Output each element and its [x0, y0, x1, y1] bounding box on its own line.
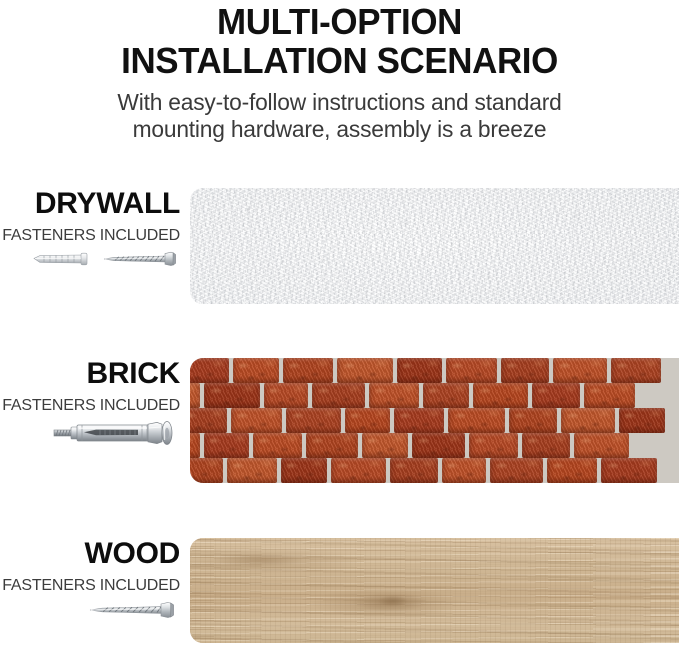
section-drywall: DRYWALL FASTENERS INCLUDED — [0, 188, 679, 316]
brick-unit — [362, 433, 408, 458]
fasteners-note-wood: FASTENERS INCLUDED — [0, 577, 180, 595]
brick-unit — [423, 383, 469, 408]
brick-unit — [574, 433, 629, 458]
brick-unit — [231, 408, 283, 433]
screw-icon — [88, 600, 180, 620]
brick-unit — [369, 383, 419, 408]
brick-unit — [281, 458, 327, 483]
brick-unit — [412, 433, 465, 458]
brick-unit — [190, 358, 229, 383]
brick-labels: BRICK FASTENERS INCLUDED — [0, 358, 180, 415]
fasteners-note-drywall: FASTENERS INCLUDED — [0, 227, 180, 245]
brick-unit — [584, 383, 635, 408]
sleeve-expansion-anchor-icon — [52, 420, 180, 446]
brick-unit — [306, 433, 357, 458]
page-title-line-2: INSTALLATION SCENARIO — [28, 41, 652, 80]
brick-unit — [286, 408, 341, 433]
brick-unit — [501, 358, 549, 383]
brick-unit — [190, 408, 227, 433]
page-subtitle-line-2: mounting hardware, assembly is a breeze — [29, 116, 650, 143]
brick-unit — [522, 433, 570, 458]
brick-unit — [227, 458, 277, 483]
brick-unit — [233, 358, 279, 383]
brick-unit — [442, 458, 486, 483]
brick-unit — [283, 358, 333, 383]
material-name-drywall: DRYWALL — [0, 188, 180, 220]
screw-icon — [102, 250, 180, 268]
material-name-wood: WOOD — [0, 538, 180, 570]
brick-unit — [394, 408, 444, 433]
surface-panel-brick — [190, 358, 679, 483]
brick-unit — [469, 433, 519, 458]
wood-texture — [190, 538, 679, 643]
wall-plug-anchor-icon — [32, 250, 94, 268]
brick-unit — [390, 458, 438, 483]
brick-unit — [190, 383, 200, 408]
brick-unit — [561, 408, 614, 433]
brick-unit — [532, 383, 580, 408]
page-subtitle: With easy-to-follow instructions and sta… — [3, 89, 675, 143]
page-title: MULTI-OPTION INSTALLATION SCENARIO — [10, 2, 669, 80]
brick-unit — [611, 358, 661, 383]
brick-unit — [312, 383, 365, 408]
brick-unit — [331, 458, 386, 483]
brick-row — [190, 433, 633, 458]
surface-panel-drywall — [190, 188, 679, 304]
brick-unit — [345, 408, 390, 433]
brick-unit — [619, 408, 666, 433]
section-brick: BRICK FASTENERS INCLUDED — [0, 358, 679, 486]
brick-hardware-row — [0, 420, 184, 446]
brick-unit — [553, 358, 608, 383]
page-subtitle-line-1: With easy-to-follow instructions and sta… — [29, 89, 650, 116]
brick-unit — [547, 458, 597, 483]
drywall-labels: DRYWALL FASTENERS INCLUDED — [0, 188, 180, 245]
section-wood: WOOD FASTENERS INCLUDED — [0, 538, 679, 648]
brick-unit — [337, 358, 393, 383]
brick-row — [190, 408, 669, 433]
brick-unit — [264, 383, 308, 408]
brick-unit — [204, 383, 260, 408]
brick-unit — [601, 458, 657, 483]
brick-texture — [190, 358, 679, 483]
wood-hardware-row — [0, 600, 180, 620]
brick-unit — [253, 433, 303, 458]
header-block: MULTI-OPTION INSTALLATION SCENARIO With … — [0, 0, 679, 143]
page-title-line-1: MULTI-OPTION — [28, 2, 652, 41]
material-name-brick: BRICK — [0, 358, 180, 390]
brick-row — [190, 358, 665, 383]
brick-row — [190, 458, 661, 483]
drywall-texture — [190, 188, 679, 304]
brick-unit — [397, 358, 441, 383]
brick-unit — [190, 458, 223, 483]
wood-labels: WOOD FASTENERS INCLUDED — [0, 538, 180, 595]
brick-unit — [509, 408, 557, 433]
brick-row — [190, 383, 639, 408]
brick-unit — [204, 433, 248, 458]
brick-unit — [473, 383, 528, 408]
fasteners-note-brick: FASTENERS INCLUDED — [0, 397, 180, 415]
brick-unit — [448, 408, 505, 433]
drywall-hardware-row — [0, 250, 180, 268]
surface-panel-wood — [190, 538, 679, 643]
brick-unit — [190, 433, 200, 458]
brick-unit — [490, 458, 543, 483]
brick-unit — [446, 358, 497, 383]
